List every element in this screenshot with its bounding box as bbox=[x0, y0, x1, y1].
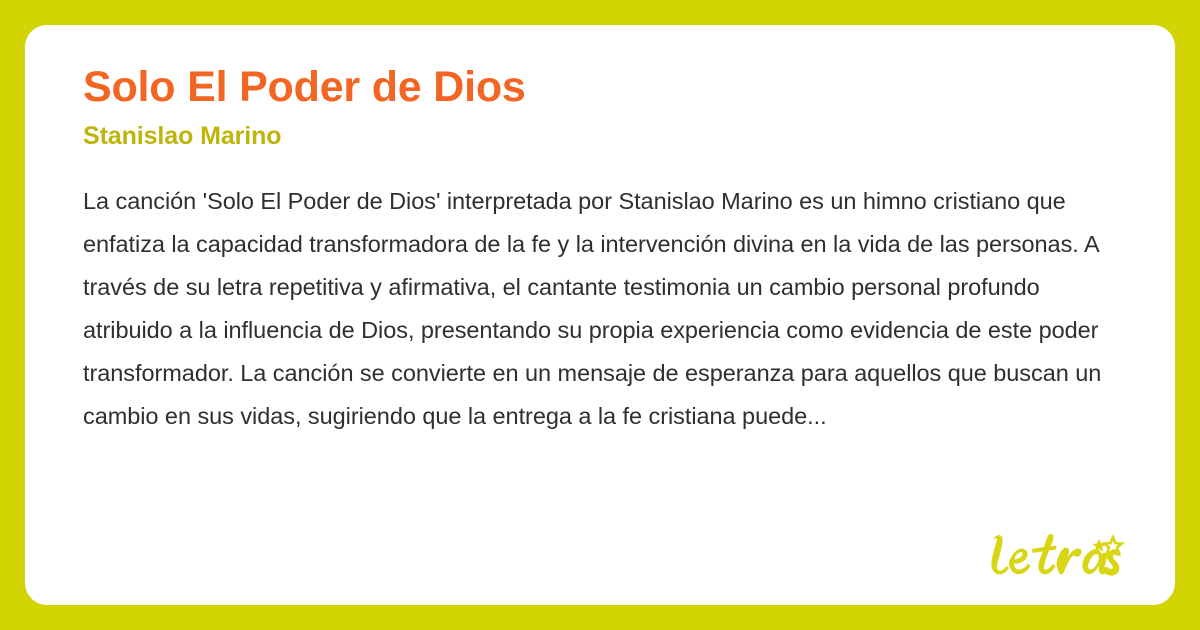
song-card: Solo El Poder de Dios Stanislao Marino L… bbox=[25, 25, 1175, 605]
page-title: Solo El Poder de Dios bbox=[83, 63, 1117, 111]
song-description: La canción 'Solo El Poder de Dios' inter… bbox=[83, 180, 1105, 438]
page-frame: Solo El Poder de Dios Stanislao Marino L… bbox=[0, 0, 1200, 630]
letras-logo bbox=[986, 531, 1118, 577]
artist-name: Stanislao Marino bbox=[83, 121, 1117, 151]
